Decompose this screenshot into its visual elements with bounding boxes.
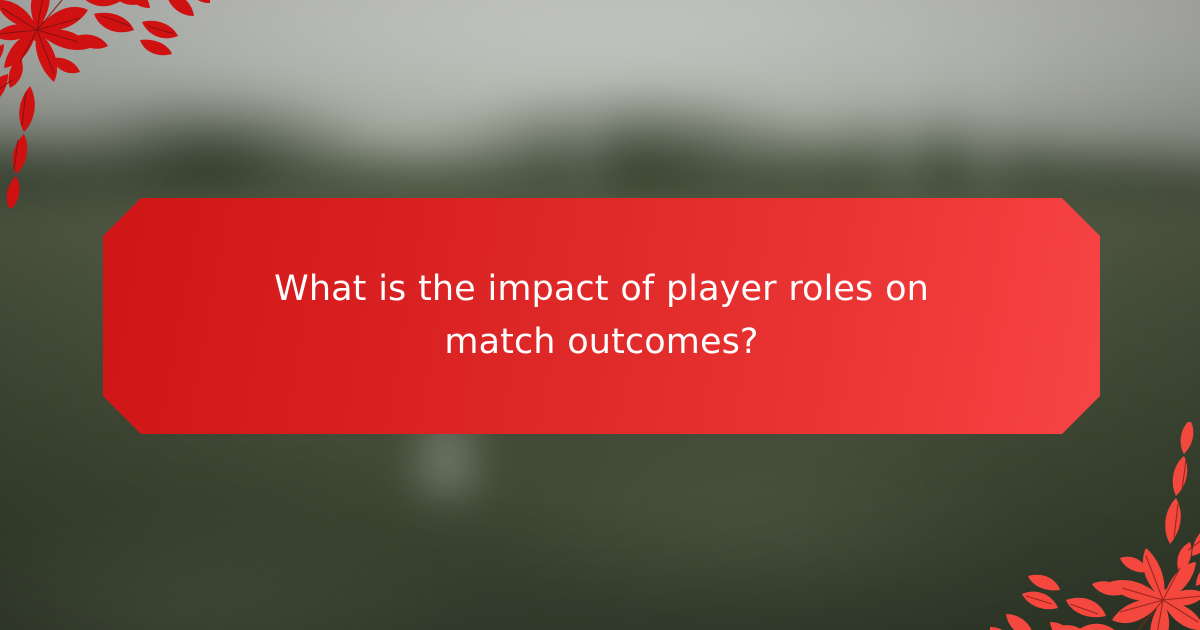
question-banner: What is the impact of player roles on ma… [103,198,1100,434]
social-card: What is the impact of player roles on ma… [0,0,1200,630]
question-title: What is the impact of player roles on ma… [229,263,974,369]
